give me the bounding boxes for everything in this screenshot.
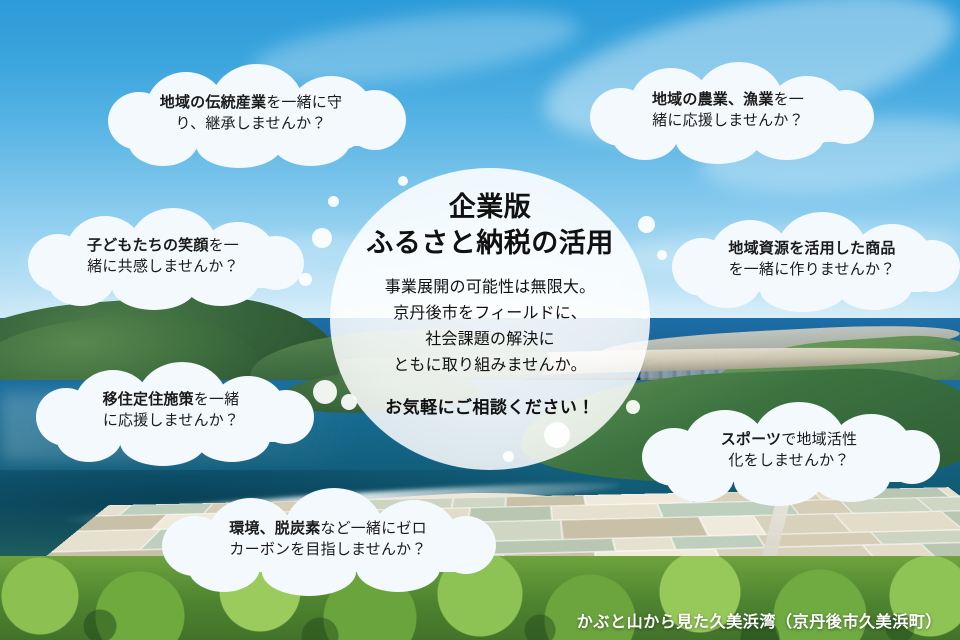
lead-line-4: ともに取り組みませんか。: [330, 353, 650, 379]
title-line-2: ふるさと納税の活用: [330, 226, 650, 262]
lead-line-1: 事業展開の可能性は無限大。: [330, 275, 650, 301]
cloud-text-bold: 地域資源を活用した商品: [728, 240, 895, 257]
cloud-text-bold: 子どもたちの笑顔: [87, 237, 209, 254]
cta-text: お気軽にご相談ください！: [330, 393, 650, 418]
title-line-1: 企業版: [330, 190, 650, 226]
cloud-text-rest: で地域活性: [781, 431, 857, 448]
decorative-bubble: [503, 451, 514, 462]
cloud-text-bold: 移住定住施策: [103, 391, 194, 408]
cloud-text-line2: り、継承しませんか？: [176, 115, 327, 132]
cloud-text-bold: 地域の伝統産業: [160, 94, 266, 111]
cloud-text-bold: 環境、脱炭素: [229, 520, 320, 537]
cloud-text-bold: スポーツ: [721, 431, 782, 448]
decorative-bubble: [398, 176, 408, 186]
cloud-text: 移住定住施策を一緒 に応援しませんか？: [26, 389, 316, 432]
cloud-sports-revitalization[interactable]: スポーツで地域活性 化をしませんか？: [634, 400, 944, 506]
cloud-text-line2: を一緒に作りませんか？: [729, 261, 896, 278]
cloud-traditional-industry[interactable]: 地域の伝統産業を一緒に守 り、継承しませんか？: [92, 64, 410, 170]
cloud-text-line2: 緒に共感しませんか？: [87, 258, 239, 275]
lead-line-2: 京丹後市をフィールドに、: [330, 301, 650, 327]
cloud-text-line2: 化をしませんか？: [728, 452, 849, 469]
poster-root: 企業版 ふるさと納税の活用 事業展開の可能性は無限大。 京丹後市をフィールドに、…: [0, 0, 960, 640]
cloud-text: 子どもたちの笑顔を一 緒に共感しませんか？: [18, 235, 308, 278]
cloud-migration-settlement[interactable]: 移住定住施策を一緒 に応援しませんか？: [26, 362, 316, 466]
cloud-zero-carbon[interactable]: 環境、脱炭素など一緒にゼロ カーボンを目指しませんか？: [152, 488, 504, 596]
cloud-text-rest: を一: [774, 91, 804, 108]
cloud-text-line2: 緒に応援しませんか？: [652, 112, 804, 129]
cloud-local-resources-product[interactable]: 地域資源を活用した商品 を一緒に作りませんか？: [664, 212, 960, 314]
cloud-text: 地域の伝統産業を一緒に守 り、継承しませんか？: [92, 92, 410, 135]
cloud-text-line2: に応援しませんか？: [103, 412, 239, 429]
cloud-text-bold: 地域の農業、漁業: [652, 91, 774, 108]
cloud-text-rest: を一緒に守: [266, 94, 342, 111]
cloud-text-line2: カーボンを目指しませんか？: [229, 541, 426, 558]
center-message: 企業版 ふるさと納税の活用 事業展開の可能性は無限大。 京丹後市をフィールドに、…: [330, 190, 650, 418]
cloud-text: 地域の農業、漁業を一 緒に応援しませんか？: [578, 89, 878, 132]
decorative-bubble: [312, 228, 332, 248]
page-title: 企業版 ふるさと納税の活用: [330, 190, 650, 261]
cloud-text: 環境、脱炭素など一緒にゼロ カーボンを目指しませんか？: [152, 518, 504, 561]
lead-line-3: 社会課題の解決に: [330, 327, 650, 353]
cloud-children-smiles[interactable]: 子どもたちの笑顔を一 緒に共感しませんか？: [18, 208, 308, 312]
cloud-text-rest: を一緒: [194, 391, 240, 408]
photo-caption: かぶと山から見た久美浜湾（京丹後市久美浜町）: [577, 608, 942, 632]
lead-paragraph: 事業展開の可能性は無限大。 京丹後市をフィールドに、 社会課題の解決に ともに取…: [330, 275, 650, 379]
cloud-text: 地域資源を活用した商品 を一緒に作りませんか？: [664, 238, 960, 281]
cloud-text-rest: を一: [209, 237, 239, 254]
decorative-bubble: [544, 422, 570, 448]
cloud-text-rest: など一緒にゼロ: [320, 520, 426, 537]
cloud-agriculture-fishery[interactable]: 地域の農業、漁業を一 緒に応援しませんか？: [578, 62, 878, 166]
cloud-text: スポーツで地域活性 化をしませんか？: [634, 429, 944, 472]
